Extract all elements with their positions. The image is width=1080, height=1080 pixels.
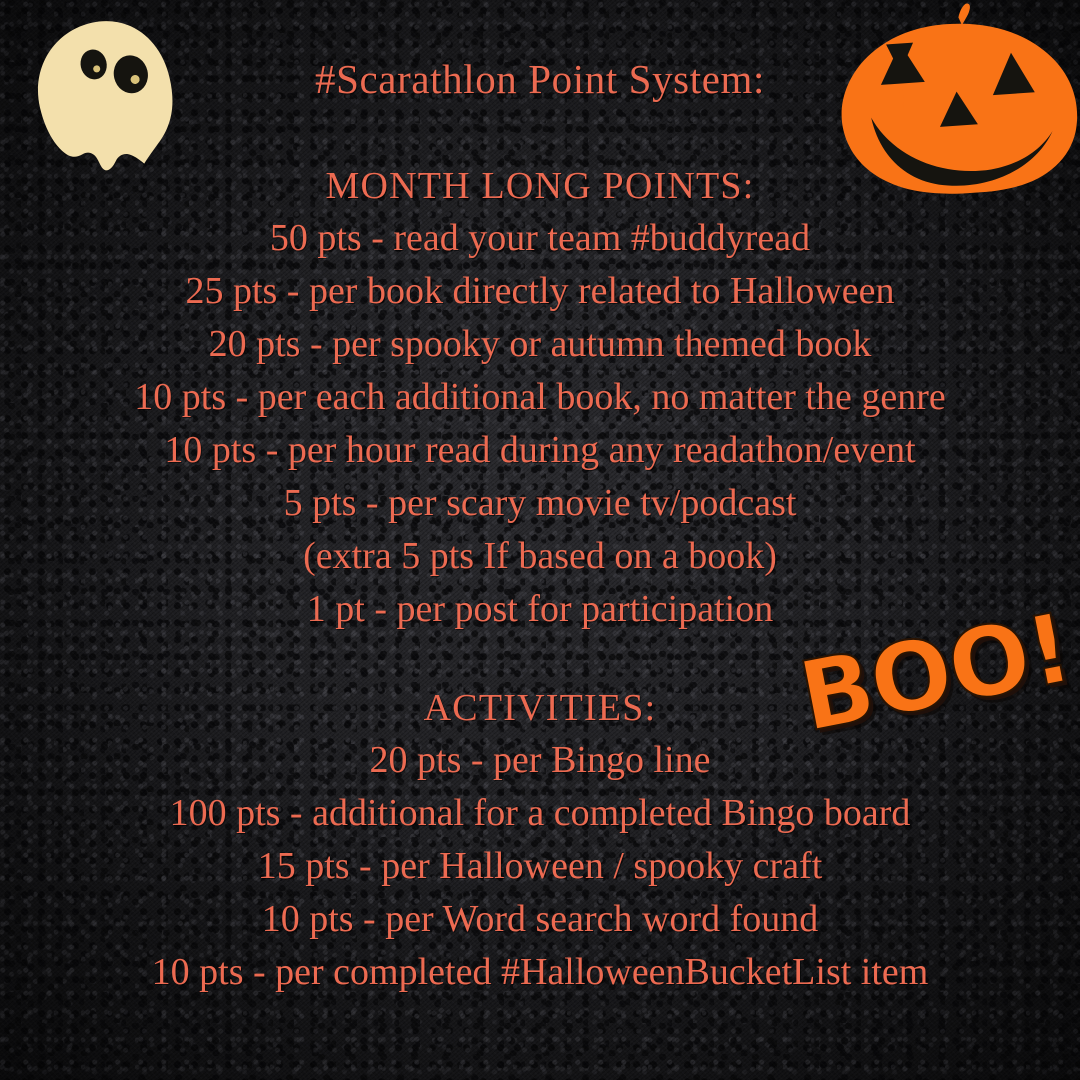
point-line: 20 pts - per spooky or autumn themed boo… (0, 318, 1080, 371)
point-line: 5 pts - per scary movie tv/podcast (0, 477, 1080, 530)
point-line: 50 pts - read your team #buddyread (0, 212, 1080, 265)
point-line-note: (extra 5 pts If based on a book) (0, 530, 1080, 583)
point-line: 25 pts - per book directly related to Ha… (0, 265, 1080, 318)
section-month-long-points: MONTH LONG POINTS: 50 pts - read your te… (0, 160, 1080, 636)
point-line: 10 pts - per Word search word found (0, 893, 1080, 946)
point-line: 10 pts - per each additional book, no ma… (0, 371, 1080, 424)
point-line: 10 pts - per completed #HalloweenBucketL… (0, 946, 1080, 999)
jack-o-lantern-icon (812, 0, 1080, 203)
point-line: 15 pts - per Halloween / spooky craft (0, 840, 1080, 893)
halloween-points-poster: BOO! #Scarathlon Point System: MONTH LON… (0, 0, 1080, 1080)
point-line: 10 pts - per hour read during any readat… (0, 424, 1080, 477)
